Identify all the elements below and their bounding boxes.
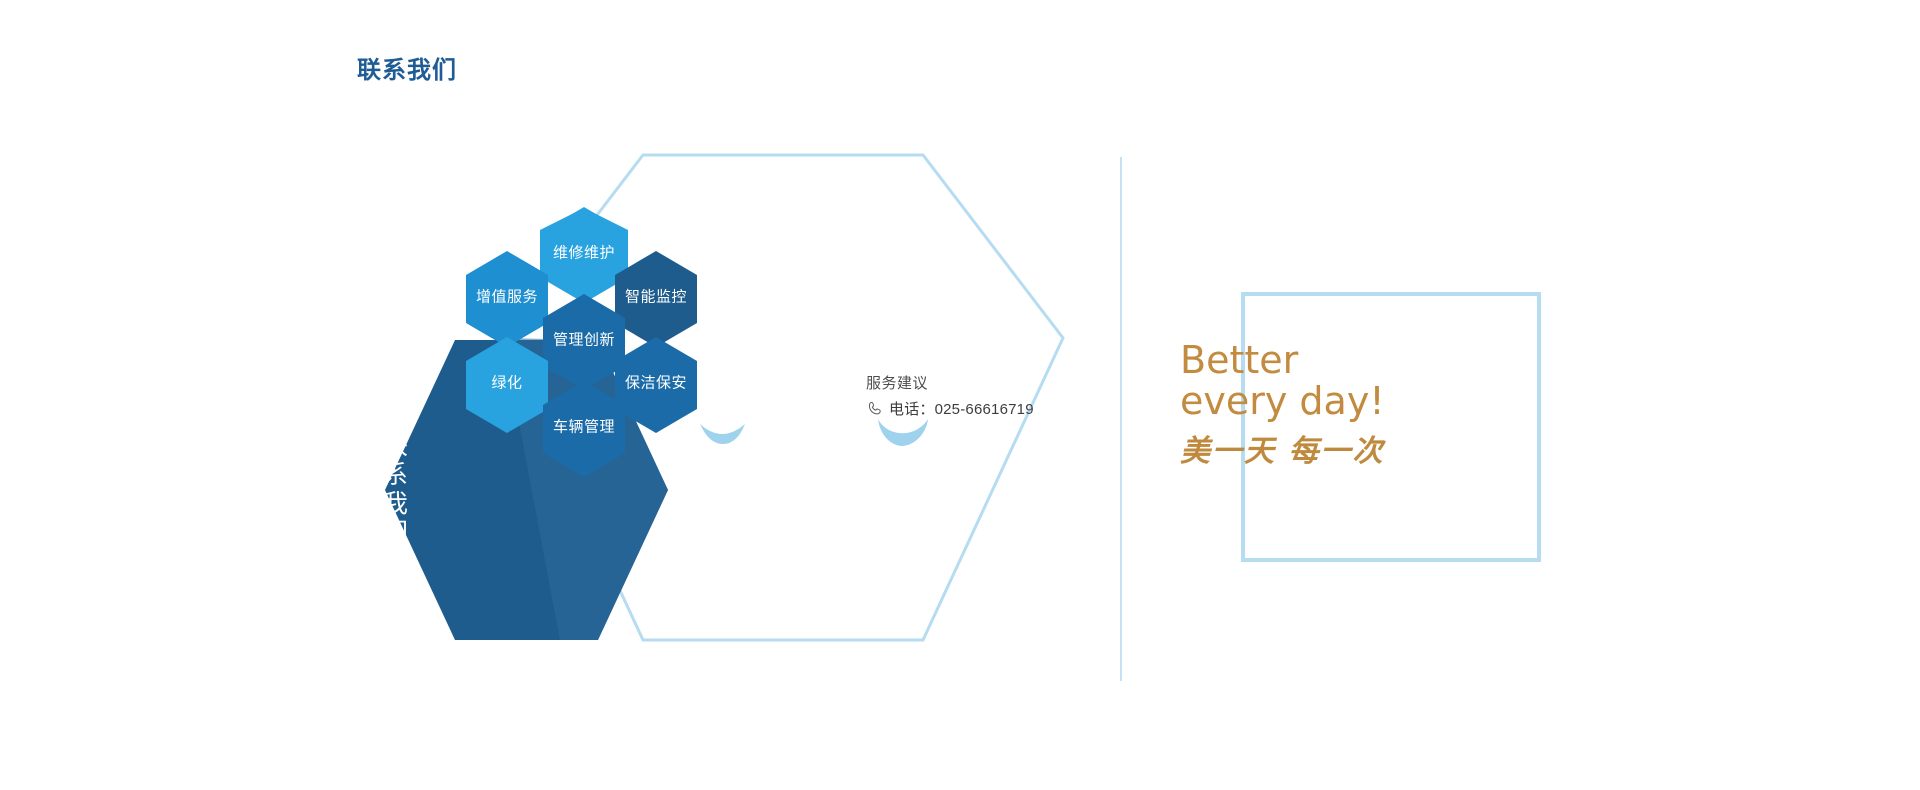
hexagon-zengzhifuwu[interactable] [466, 251, 548, 347]
vertical-divider [1120, 157, 1122, 681]
calligraphy-art: 美一天 每一次 [1180, 425, 1390, 471]
contact-block: 服务建议 电话：025-66616719 [866, 372, 1034, 419]
decor-arc-shape [878, 419, 928, 446]
contact-phone-text: 电话：025-66616719 [889, 398, 1034, 419]
contact-phone-row[interactable]: 电话：025-66616719 [866, 398, 1034, 419]
calligraphy-text: 美一天 每一次 [1180, 434, 1386, 469]
slogan-line-1: Better [1180, 340, 1510, 381]
right-panel: Better every day! 美一天 每一次 [1180, 260, 1600, 620]
slide-canvas: 联系我们 联系我们 维修维护 增值服务 智能监控 管理创新 [0, 0, 1920, 790]
slogan-block: Better every day! 美一天 每一次 [1180, 340, 1510, 471]
slogan-line-2: every day! [1180, 381, 1510, 422]
phone-icon [866, 400, 884, 418]
decor-arc [700, 424, 745, 444]
center-hexagon-label: 联系我们 [379, 432, 408, 548]
slogan-chinese-calligraphy: 美一天 每一次 [1180, 425, 1390, 471]
contact-heading: 服务建议 [866, 372, 1034, 393]
hexagon-weixiuweihu[interactable] [543, 207, 625, 303]
